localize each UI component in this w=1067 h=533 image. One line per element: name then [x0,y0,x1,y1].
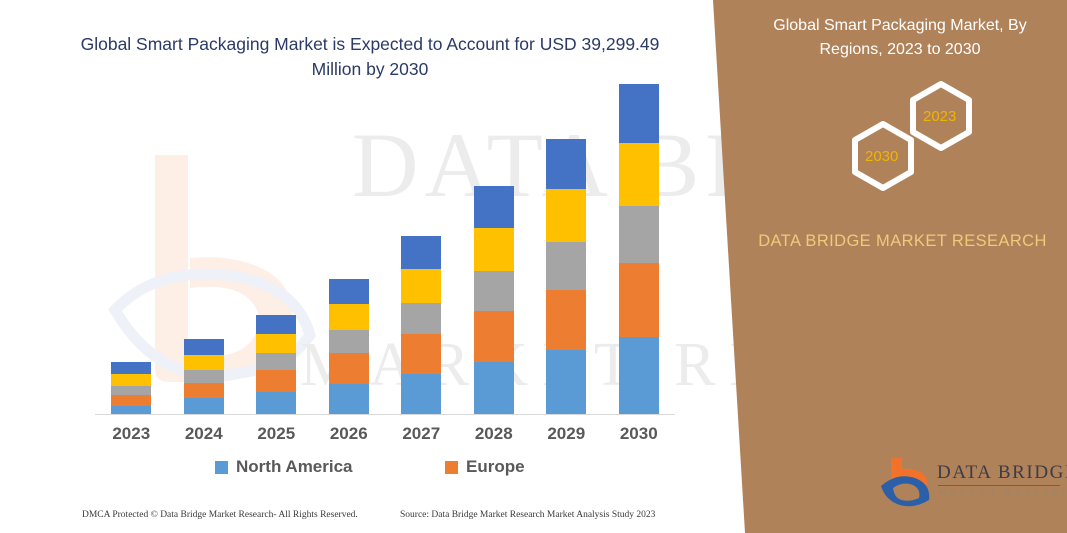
x-axis-label-2023: 2023 [96,424,166,444]
legend-swatch-icon [215,461,228,474]
legend-label: Europe [466,457,525,477]
chart-title: Global Smart Packaging Market is Expecte… [60,32,680,82]
bar-segment [619,337,659,415]
bar-segment [111,395,151,406]
bar-segment [546,290,586,351]
bar-segment [256,392,296,415]
chart-infographic: DATA BRIDGE MARKET RESEARCH Global Smart… [0,0,1067,533]
x-axis-label-2024: 2024 [169,424,239,444]
logo-divider [938,485,1060,486]
bar-segment [256,315,296,334]
hex-badge-2030-label: 2030 [865,148,898,165]
legend-swatch-icon [445,461,458,474]
x-axis-line [95,414,675,415]
bar-segment [256,370,296,392]
bar-segment [329,304,369,330]
hex-badge-shapes [745,78,1067,203]
bar-segment [256,334,296,353]
bar-segment [546,139,586,189]
bar-segment [111,386,151,395]
bar-segment [401,236,441,269]
bar-segment [546,189,586,242]
brand-panel-content: Global Smart Packaging Market, By Region… [745,0,1067,533]
hex-badge-2023-label: 2023 [923,108,956,125]
bar-2027[interactable] [401,236,441,415]
brand-panel-brandname: DATA BRIDGE MARKET RESEARCH [750,228,1055,254]
bar-segment [619,263,659,337]
bar-segment [184,370,224,383]
bar-segment [401,303,441,333]
brand-panel-title: Global Smart Packaging Market, By Region… [750,14,1050,62]
bar-segment [256,353,296,370]
x-axis-label-2030: 2030 [604,424,674,444]
x-axis-label-2025: 2025 [241,424,311,444]
bar-segment [619,143,659,206]
bar-segment [111,362,151,375]
footer-copyright: DMCA Protected © Data Bridge Market Rese… [82,510,358,520]
bar-2029[interactable] [546,139,586,415]
bar-2024[interactable] [184,339,224,415]
bar-segment [184,355,224,370]
bar-segment [401,334,441,374]
bar-segment [474,271,514,311]
x-axis-labels: 20232024202520262027202820292030 [95,424,675,452]
logo-subtitle: MARKET RESEARCH [938,487,1067,497]
bar-segment [329,384,369,415]
bar-segment [329,279,369,304]
x-axis-label-2026: 2026 [314,424,384,444]
chart-panel: Global Smart Packaging Market is Expecte… [0,0,760,533]
bar-segment [401,374,441,415]
bar-2028[interactable] [474,186,514,415]
x-axis-label-2028: 2028 [459,424,529,444]
bar-segment [401,269,441,303]
bar-segment [184,383,224,399]
company-logo: DATA BRIDGE MARKET RESEARCH [875,452,1065,514]
plot-area [95,120,675,415]
bar-segment [474,362,514,415]
chart-legend: North AmericaEurope [95,455,675,485]
bar-segment [619,84,659,143]
legend-item-europe[interactable]: Europe [445,457,525,477]
bar-segment [329,330,369,353]
bar-segment [184,398,224,415]
bar-segment [184,339,224,355]
bar-segment [546,242,586,290]
bar-segment [474,186,514,227]
bar-2023[interactable] [111,362,151,415]
footer-source: Source: Data Bridge Market Research Mark… [400,510,655,520]
bar-segment [546,350,586,415]
bar-segment [111,374,151,385]
hex-badge-group: 2023 2030 [745,78,1067,203]
legend-label: North America [236,457,353,477]
legend-item-north-america[interactable]: North America [215,457,353,477]
logo-title: DATA BRIDGE [937,462,1067,484]
bar-segment [619,206,659,263]
x-axis-label-2029: 2029 [531,424,601,444]
bar-segment [474,228,514,271]
bar-2030[interactable] [619,84,659,415]
bar-2026[interactable] [329,279,369,415]
footer: DMCA Protected © Data Bridge Market Rese… [0,506,760,530]
bar-2025[interactable] [256,315,296,415]
bar-segment [474,311,514,362]
bridge-logo-icon [877,454,937,512]
x-axis-label-2027: 2027 [386,424,456,444]
bar-segment [329,353,369,383]
